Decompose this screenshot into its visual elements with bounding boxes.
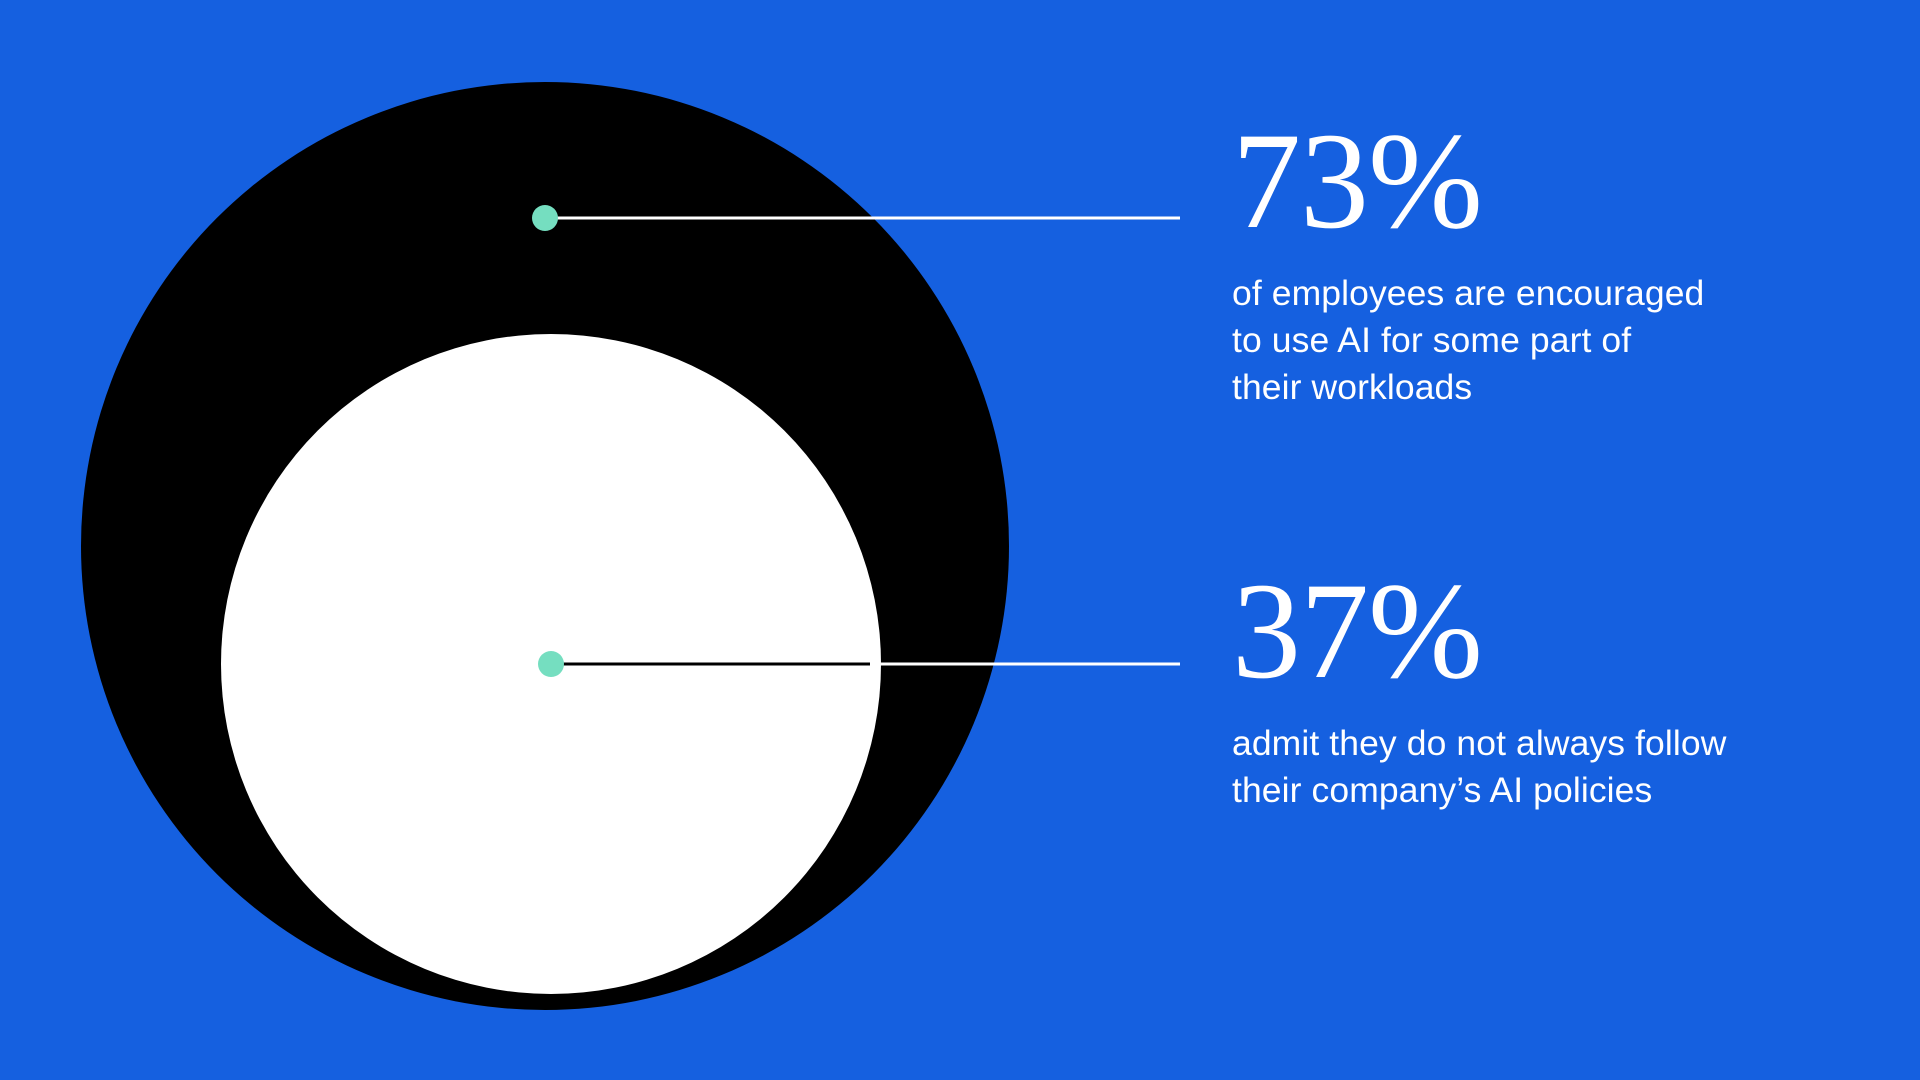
- stat-block-37: 37% admit they do not always follow thei…: [1232, 562, 1872, 814]
- nested-circles-figure: [0, 0, 1180, 1080]
- stat-value-73: 73%: [1232, 112, 1872, 250]
- stat-value-37: 37%: [1232, 562, 1872, 700]
- stats-column: 73% of employees are encouraged to use A…: [1232, 0, 1892, 1080]
- stat-description-73-line-2: to use AI for some part of: [1232, 317, 1872, 364]
- stat-description-37-line-2: their company’s AI policies: [1232, 767, 1872, 814]
- stat-description-73: of employees are encouraged to use AI fo…: [1232, 270, 1872, 411]
- stat-description-73-line-3: their workloads: [1232, 364, 1872, 411]
- stat-description-73-line-1: of employees are encouraged: [1232, 270, 1872, 317]
- 73-percent-marker-dot: [532, 205, 558, 231]
- stat-description-37: admit they do not always follow their co…: [1232, 720, 1872, 814]
- stat-block-73: 73% of employees are encouraged to use A…: [1232, 112, 1872, 411]
- 37-percent-marker-dot: [538, 651, 564, 677]
- infographic-canvas: 73% of employees are encouraged to use A…: [0, 0, 1920, 1080]
- stat-description-37-line-1: admit they do not always follow: [1232, 720, 1872, 767]
